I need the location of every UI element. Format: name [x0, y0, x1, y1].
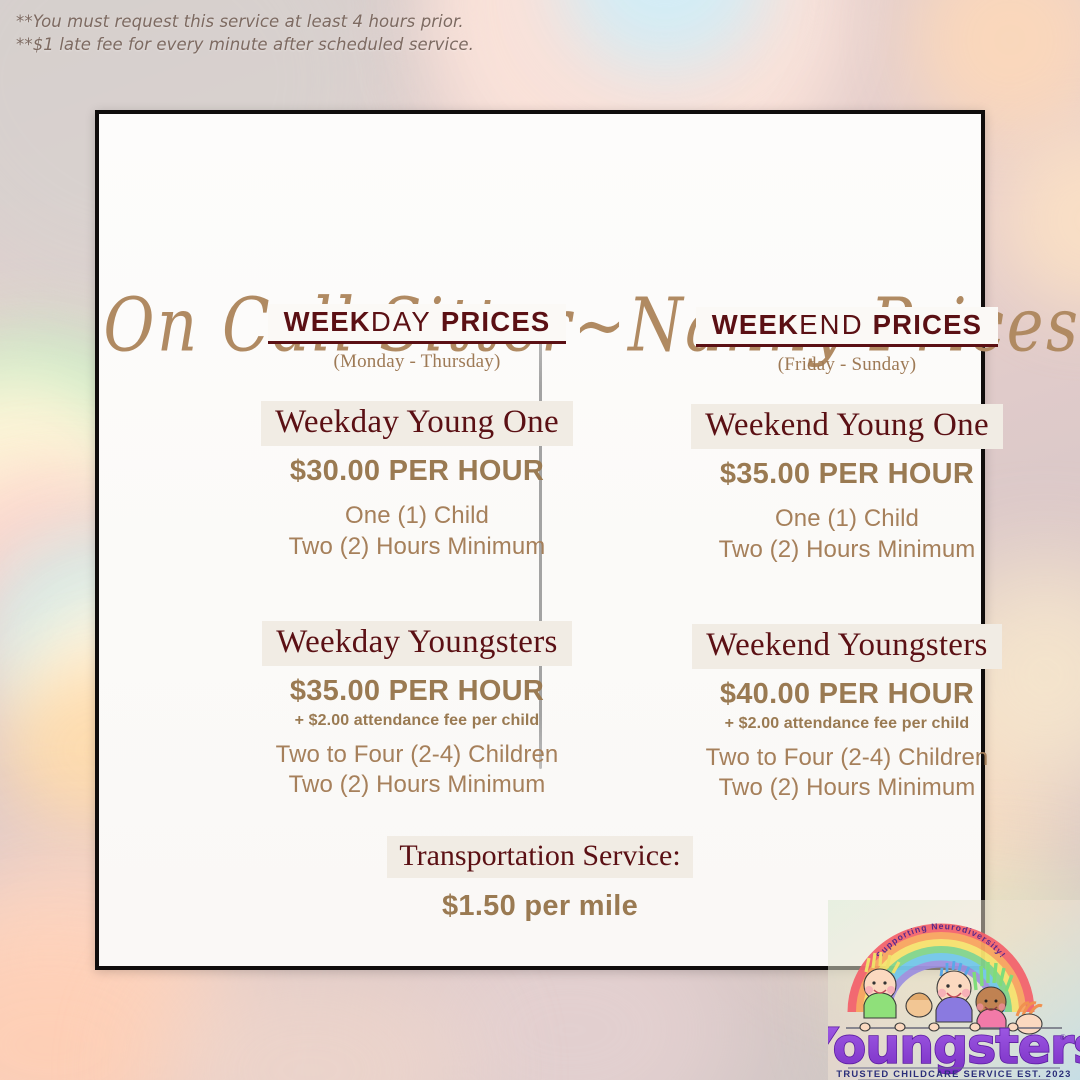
note-line-1: **You must request this service at least…	[16, 10, 616, 33]
tier-detail: Two to Four (2-4) Children Two (2) Hours…	[647, 743, 1047, 804]
logo-tagline: TRUSTED CHILDCARE SERVICE EST. 2023	[836, 1068, 1071, 1079]
logo-brand-text: Youngsters	[828, 1018, 1080, 1075]
weekday-header-bold2: PRICES	[432, 306, 550, 337]
weekday-column: WEEKDAY PRICES (Monday - Thursday) Weekd…	[217, 304, 617, 801]
logo-trademark: ®	[1060, 1033, 1066, 1042]
price-card: On Call Sitter~Nanny Prices WEEKDAY PRIC…	[95, 110, 985, 970]
tier-detail-line-2: Two (2) Hours Minimum	[647, 773, 1047, 804]
tier-weekday-youngsters: Weekday Youngsters $35.00 PER HOUR + $2.…	[217, 621, 617, 801]
tier-weekend-youngsters: Weekend Youngsters $40.00 PER HOUR + $2.…	[647, 624, 1047, 804]
tier-name: Weekday Young One	[261, 401, 573, 446]
tier-detail-line-2: Two (2) Hours Minimum	[217, 532, 617, 563]
tier-price: $35.00 PER HOUR	[217, 675, 617, 708]
tier-weekday-young-one: Weekday Young One $30.00 PER HOUR One (1…	[217, 401, 617, 562]
weekend-header-light: END	[799, 309, 864, 340]
weekend-column: WEEKEND PRICES (Friday - Sunday) Weekend…	[647, 307, 1047, 804]
weekday-header: WEEKDAY PRICES	[268, 304, 567, 344]
tier-price: $30.00 PER HOUR	[217, 455, 617, 488]
tier-detail: Two to Four (2-4) Children Two (2) Hours…	[217, 740, 617, 801]
tier-name: Weekend Young One	[691, 404, 1003, 449]
tier-weekend-young-one: Weekend Young One $35.00 PER HOUR One (1…	[647, 404, 1047, 565]
weekend-header-bold1: WEEK	[712, 309, 799, 340]
tier-name: Weekend Youngsters	[692, 624, 1001, 669]
tier-detail-line-1: Two to Four (2-4) Children	[217, 740, 617, 771]
weekday-header-light: DAY	[371, 306, 432, 337]
weekday-subtitle: (Monday - Thursday)	[217, 351, 617, 373]
note-line-2: **$1 late fee for every minute after sch…	[16, 33, 616, 56]
tier-price: $35.00 PER HOUR	[647, 458, 1047, 491]
weekend-header: WEEKEND PRICES	[696, 307, 998, 347]
weekend-subtitle: (Friday - Sunday)	[647, 354, 1047, 376]
tier-detail-line-1: Two to Four (2-4) Children	[647, 743, 1047, 774]
tier-detail-line-2: Two (2) Hours Minimum	[217, 770, 617, 801]
tier-detail-line-1: One (1) Child	[217, 501, 617, 532]
tier-detail-line-1: One (1) Child	[647, 504, 1047, 535]
youngsters-logo: Supporting Neurodiversity!	[828, 900, 1080, 1080]
weekend-header-bold2: PRICES	[864, 309, 982, 340]
tier-name: Weekday Youngsters	[262, 621, 571, 666]
tier-detail: One (1) Child Two (2) Hours Minimum	[217, 501, 617, 562]
tier-fee: + $2.00 attendance fee per child	[647, 715, 1047, 733]
tier-detail: One (1) Child Two (2) Hours Minimum	[647, 504, 1047, 565]
tier-price: $40.00 PER HOUR	[647, 678, 1047, 711]
tier-fee: + $2.00 attendance fee per child	[217, 712, 617, 730]
tier-detail-line-2: Two (2) Hours Minimum	[647, 535, 1047, 566]
top-notes: **You must request this service at least…	[16, 10, 616, 57]
weekday-header-bold1: WEEK	[284, 306, 371, 337]
transportation-title: Transportation Service:	[387, 836, 692, 878]
